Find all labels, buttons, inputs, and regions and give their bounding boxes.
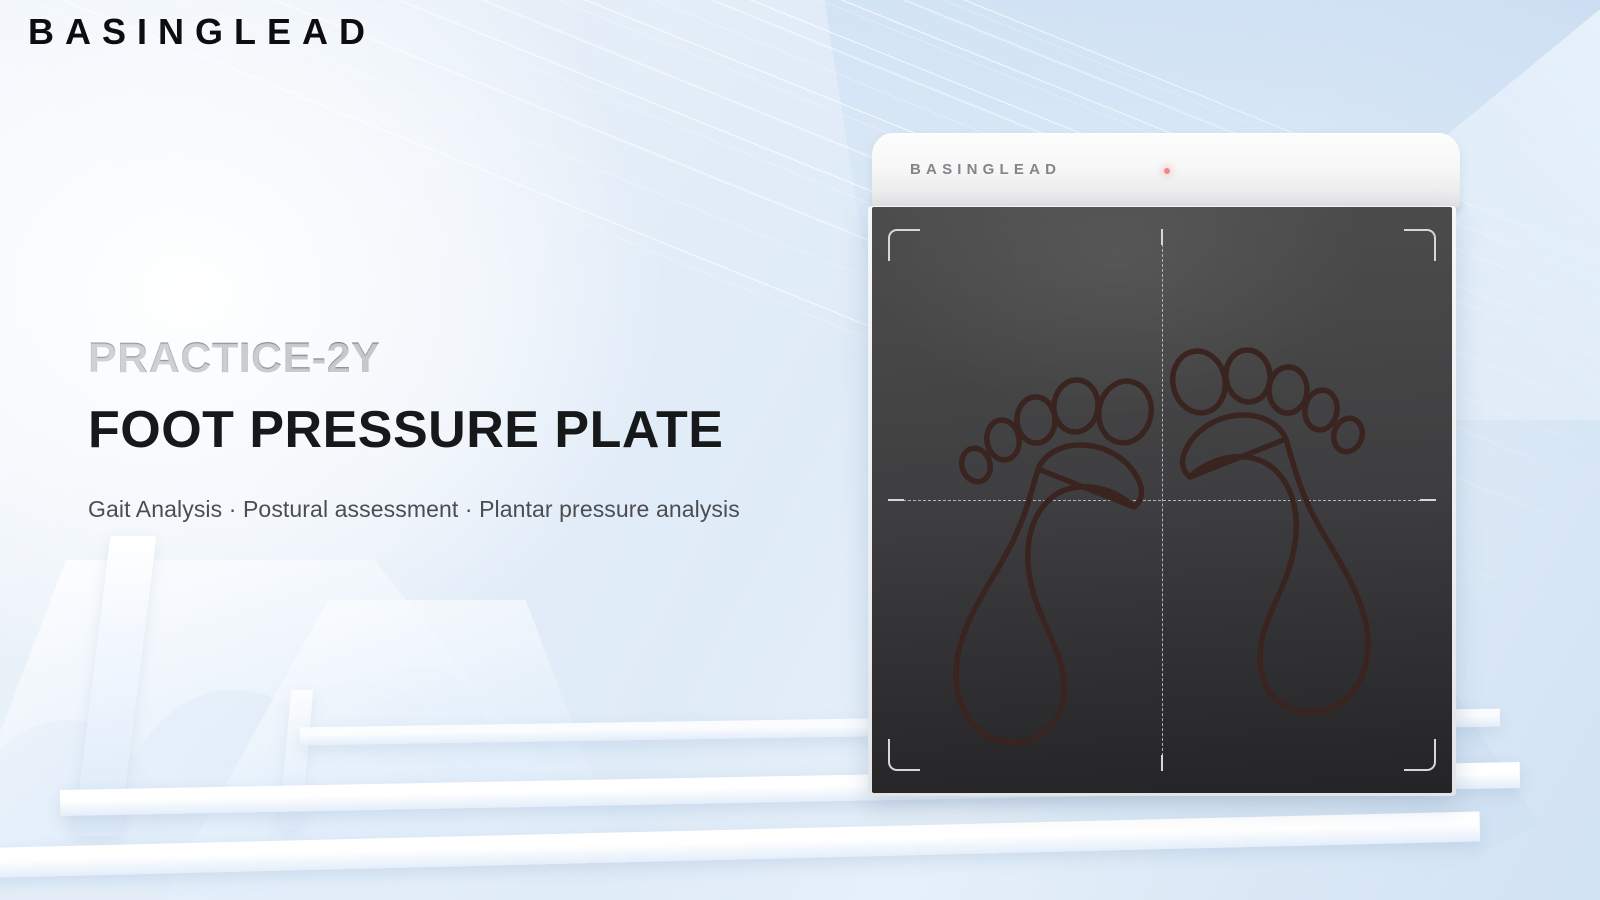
headline-block: PRACTICE-2Y FOOT PRESSURE PLATE Gait Ana… (88, 336, 868, 523)
page-title: FOOT PRESSURE PLATE (88, 403, 868, 458)
background-arch-3 (255, 680, 465, 860)
background-prism-small (279, 690, 313, 830)
model-name: PRACTICE-2Y (88, 336, 868, 381)
background-slab-1 (0, 560, 640, 890)
footprint-guides (872, 207, 1452, 793)
pressure-plate-surface (872, 207, 1452, 793)
device-brand-label: BASINGLEAD (910, 161, 1061, 178)
company-logo: BASINGLEAD (28, 12, 376, 52)
background-prism-column (74, 536, 157, 836)
background-arch-1 (0, 720, 170, 900)
background-arch-2 (120, 690, 350, 880)
background-step-bar-2 (0, 811, 1480, 878)
product-banner: BASINGLEAD PRACTICE-2Y FOOT PRESSURE PLA… (0, 0, 1600, 900)
device-header-bar: BASINGLEAD (872, 133, 1460, 207)
footprint-left-icon (956, 376, 1157, 742)
background-slab-2 (120, 600, 640, 900)
tagline: Gait Analysis · Postural assessment · Pl… (88, 496, 868, 523)
footprint-right-icon (1167, 346, 1368, 712)
background-arch-4 (345, 665, 495, 815)
plate-frame (868, 206, 1456, 796)
power-indicator-icon (1164, 168, 1170, 174)
foot-pressure-plate-device: BASINGLEAD (868, 130, 1460, 798)
